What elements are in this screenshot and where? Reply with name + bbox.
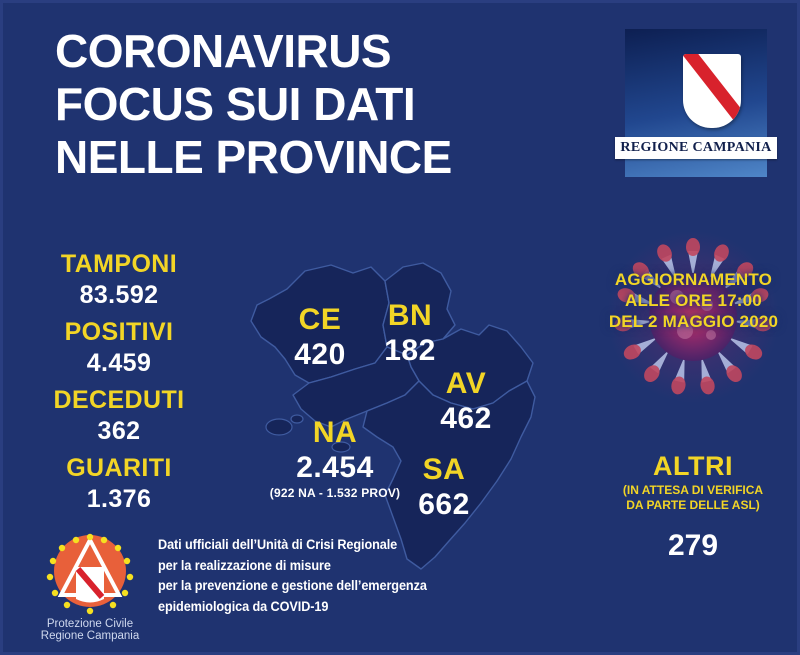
footer-line-3: per la prevenzione e gestione dell’emerg… xyxy=(158,576,468,597)
stat-label-tamponi: TAMPONI xyxy=(3,250,235,279)
protezione-civile-logo: Protezione Civile Regione Campania xyxy=(33,523,148,643)
logo-banner: REGIONE CAMPANIA xyxy=(615,137,777,159)
infographic-poster: CORONAVIRUS FOCUS SUI DATI NELLE PROVINC… xyxy=(0,0,800,655)
update-text: AGGIORNAMENTO ALLE ORE 17:00 DEL 2 MAGGI… xyxy=(591,269,796,332)
province-code-sa: SA xyxy=(399,453,489,487)
altri-panel: ALTRI (IN ATTESA DI VERIFICA DA PARTE DE… xyxy=(583,451,800,563)
province-value-na: 2.454 xyxy=(265,451,405,485)
page-title: CORONAVIRUS FOCUS SUI DATI NELLE PROVINC… xyxy=(55,25,575,184)
altri-value: 279 xyxy=(583,529,800,563)
province-value-sa: 662 xyxy=(399,488,489,522)
footer-line-4: epidemiologica da COVID-19 xyxy=(158,597,468,618)
update-line-2: ALLE ORE 17:00 xyxy=(591,290,796,311)
stat-value-guariti: 1.376 xyxy=(3,485,235,514)
province-label-sa: SA 662 xyxy=(399,453,489,522)
province-label-na: NA 2.454 (922 NA - 1.532 PROV) xyxy=(265,416,405,500)
stat-label-deceduti: DECEDUTI xyxy=(3,386,235,415)
stat-value-deceduti: 362 xyxy=(3,417,235,446)
stat-value-tamponi: 83.592 xyxy=(3,281,235,310)
stat-label-guariti: GUARITI xyxy=(3,454,235,483)
pc-caption-line2: Regione Campania xyxy=(41,630,140,642)
update-panel: AGGIORNAMENTO ALLE ORE 17:00 DEL 2 MAGGI… xyxy=(591,231,796,406)
update-line-3: DEL 2 MAGGIO 2020 xyxy=(591,311,796,332)
campania-shield-icon xyxy=(683,54,741,128)
province-code-av: AV xyxy=(421,367,511,401)
province-value-bn: 182 xyxy=(365,334,455,368)
stat-label-positivi: POSITIVI xyxy=(3,318,235,347)
update-line-1: AGGIORNAMENTO xyxy=(591,269,796,290)
stat-value-positivi: 4.459 xyxy=(3,349,235,378)
regional-stats-panel: TAMPONI 83.592 POSITIVI 4.459 DECEDUTI 3… xyxy=(3,246,235,522)
altri-note-line1: (IN ATTESA DI VERIFICA xyxy=(583,483,800,497)
logo-banner-label: REGIONE CAMPANIA xyxy=(620,140,771,156)
altri-note-line2: DA PARTE DELLE ASL) xyxy=(583,498,800,512)
title-line-3: NELLE PROVINCE xyxy=(55,131,575,184)
pc-caption-line1: Protezione Civile xyxy=(47,618,133,630)
province-value-ce: 420 xyxy=(275,338,365,372)
province-label-av: AV 462 xyxy=(421,367,511,436)
province-code-na: NA xyxy=(265,416,405,450)
regione-campania-logo: REGIONE CAMPANIA xyxy=(611,25,781,190)
footer-note: Dati ufficiali dell’Unità di Crisi Regio… xyxy=(158,535,488,617)
province-label-ce: CE 420 xyxy=(275,303,365,372)
altri-label: ALTRI xyxy=(583,451,800,482)
province-code-bn: BN xyxy=(365,299,455,333)
title-line-1: CORONAVIRUS xyxy=(55,25,575,78)
province-label-bn: BN 182 xyxy=(365,299,455,368)
shield-red-stripe xyxy=(683,54,741,128)
footer-line-1: Dati ufficiali dell’Unità di Crisi Regio… xyxy=(158,535,468,556)
province-note-na: (922 NA - 1.532 PROV) xyxy=(265,486,405,500)
province-code-ce: CE xyxy=(275,303,365,337)
province-value-av: 462 xyxy=(421,402,511,436)
title-line-2: FOCUS SUI DATI xyxy=(55,78,575,131)
footer-line-2: per la realizzazione di misure xyxy=(158,556,468,577)
